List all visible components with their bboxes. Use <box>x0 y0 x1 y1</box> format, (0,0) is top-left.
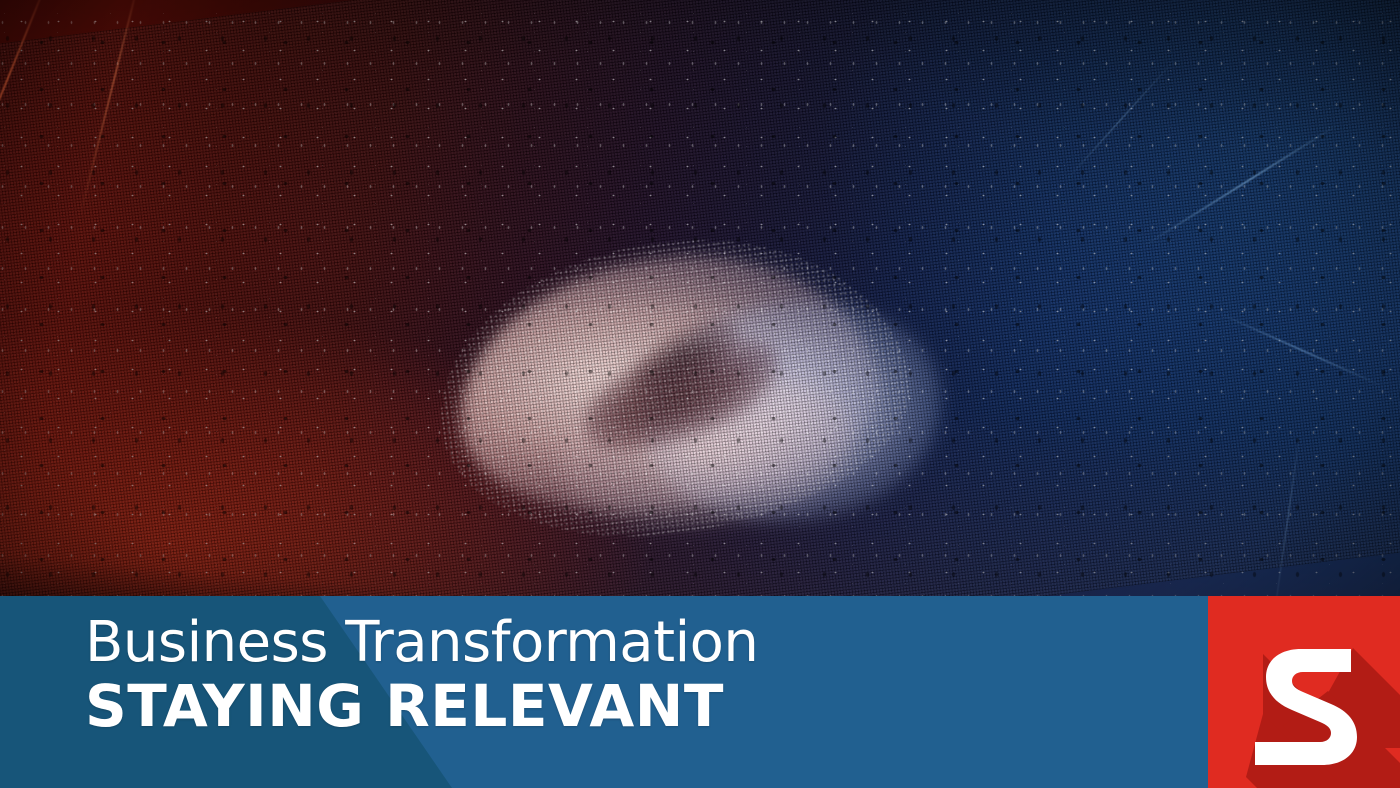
logo-s-icon <box>1208 596 1400 788</box>
banner-title-line-1: Business Transformation <box>85 612 1145 674</box>
thumbnail-canvas: Business Transformation STAYING RELEVANT <box>0 0 1400 788</box>
banner-title-line-2: STAYING RELEVANT <box>85 674 1145 738</box>
banner-text-block: Business Transformation STAYING RELEVANT <box>85 612 1145 738</box>
hero-image <box>0 0 1400 596</box>
cloud-glow-shape <box>412 204 978 596</box>
brand-logo-block <box>1208 596 1400 788</box>
